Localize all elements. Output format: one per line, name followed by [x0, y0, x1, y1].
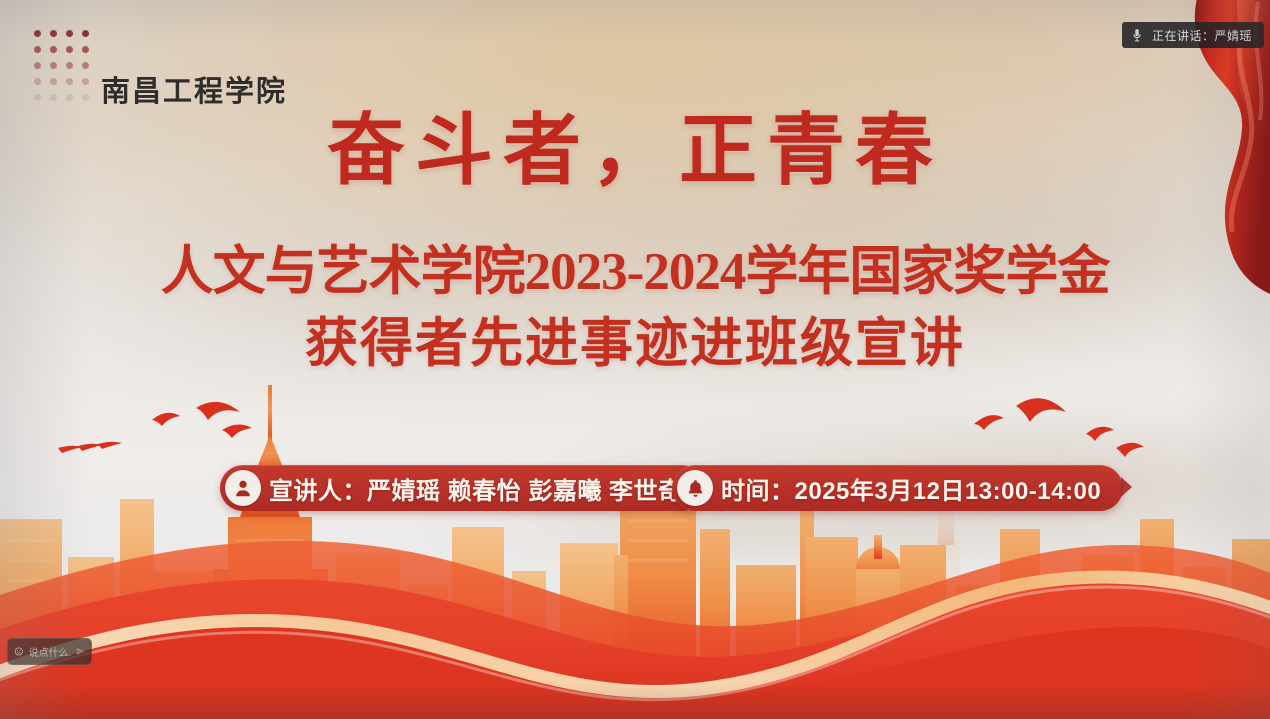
university-name: 南昌工程学院	[101, 78, 287, 107]
page-title: 奋斗者，正青春	[0, 112, 1270, 190]
presentation-slide-screenshot: 南昌工程学院 奋斗者，正青春 人文与艺术学院2023-2024学年国家奖学金 获…	[0, 0, 1270, 719]
speaking-label: 正在讲话：严婧瑶	[1152, 27, 1252, 44]
pill-ribbon-tail	[1121, 477, 1132, 497]
subtitle-line-1: 人文与艺术学院2023-2024学年国家奖学金	[0, 246, 1270, 299]
speaker-info-pill: 宣讲人：严婧瑶 赖春怡 彭嘉曦 李世奇	[220, 465, 705, 511]
bell-icon	[677, 470, 713, 506]
now-speaking-overlay: 正在讲话：严婧瑶	[1122, 22, 1264, 48]
speaker-names: 宣讲人：严婧瑶 赖春怡 彭嘉曦 李世奇	[269, 471, 683, 506]
grid-dots-logo-icon	[34, 30, 91, 103]
chat-placeholder[interactable]: 说点什么...	[29, 644, 71, 659]
chat-input-box[interactable]: 说点什么...	[7, 638, 92, 665]
send-icon[interactable]	[76, 647, 85, 656]
time-info-pill: 时间：2025年3月12日13:00-14:00	[672, 465, 1123, 511]
microphone-icon	[1130, 28, 1144, 42]
smiley-icon[interactable]	[14, 646, 24, 657]
event-time: 时间：2025年3月12日13:00-14:00	[721, 471, 1101, 506]
person-icon	[225, 470, 261, 506]
university-logo: 南昌工程学院	[34, 30, 287, 107]
distant-skyline	[0, 419, 1270, 719]
subtitle-line-2: 获得者先进事迹进班级宣讲	[0, 318, 1270, 371]
